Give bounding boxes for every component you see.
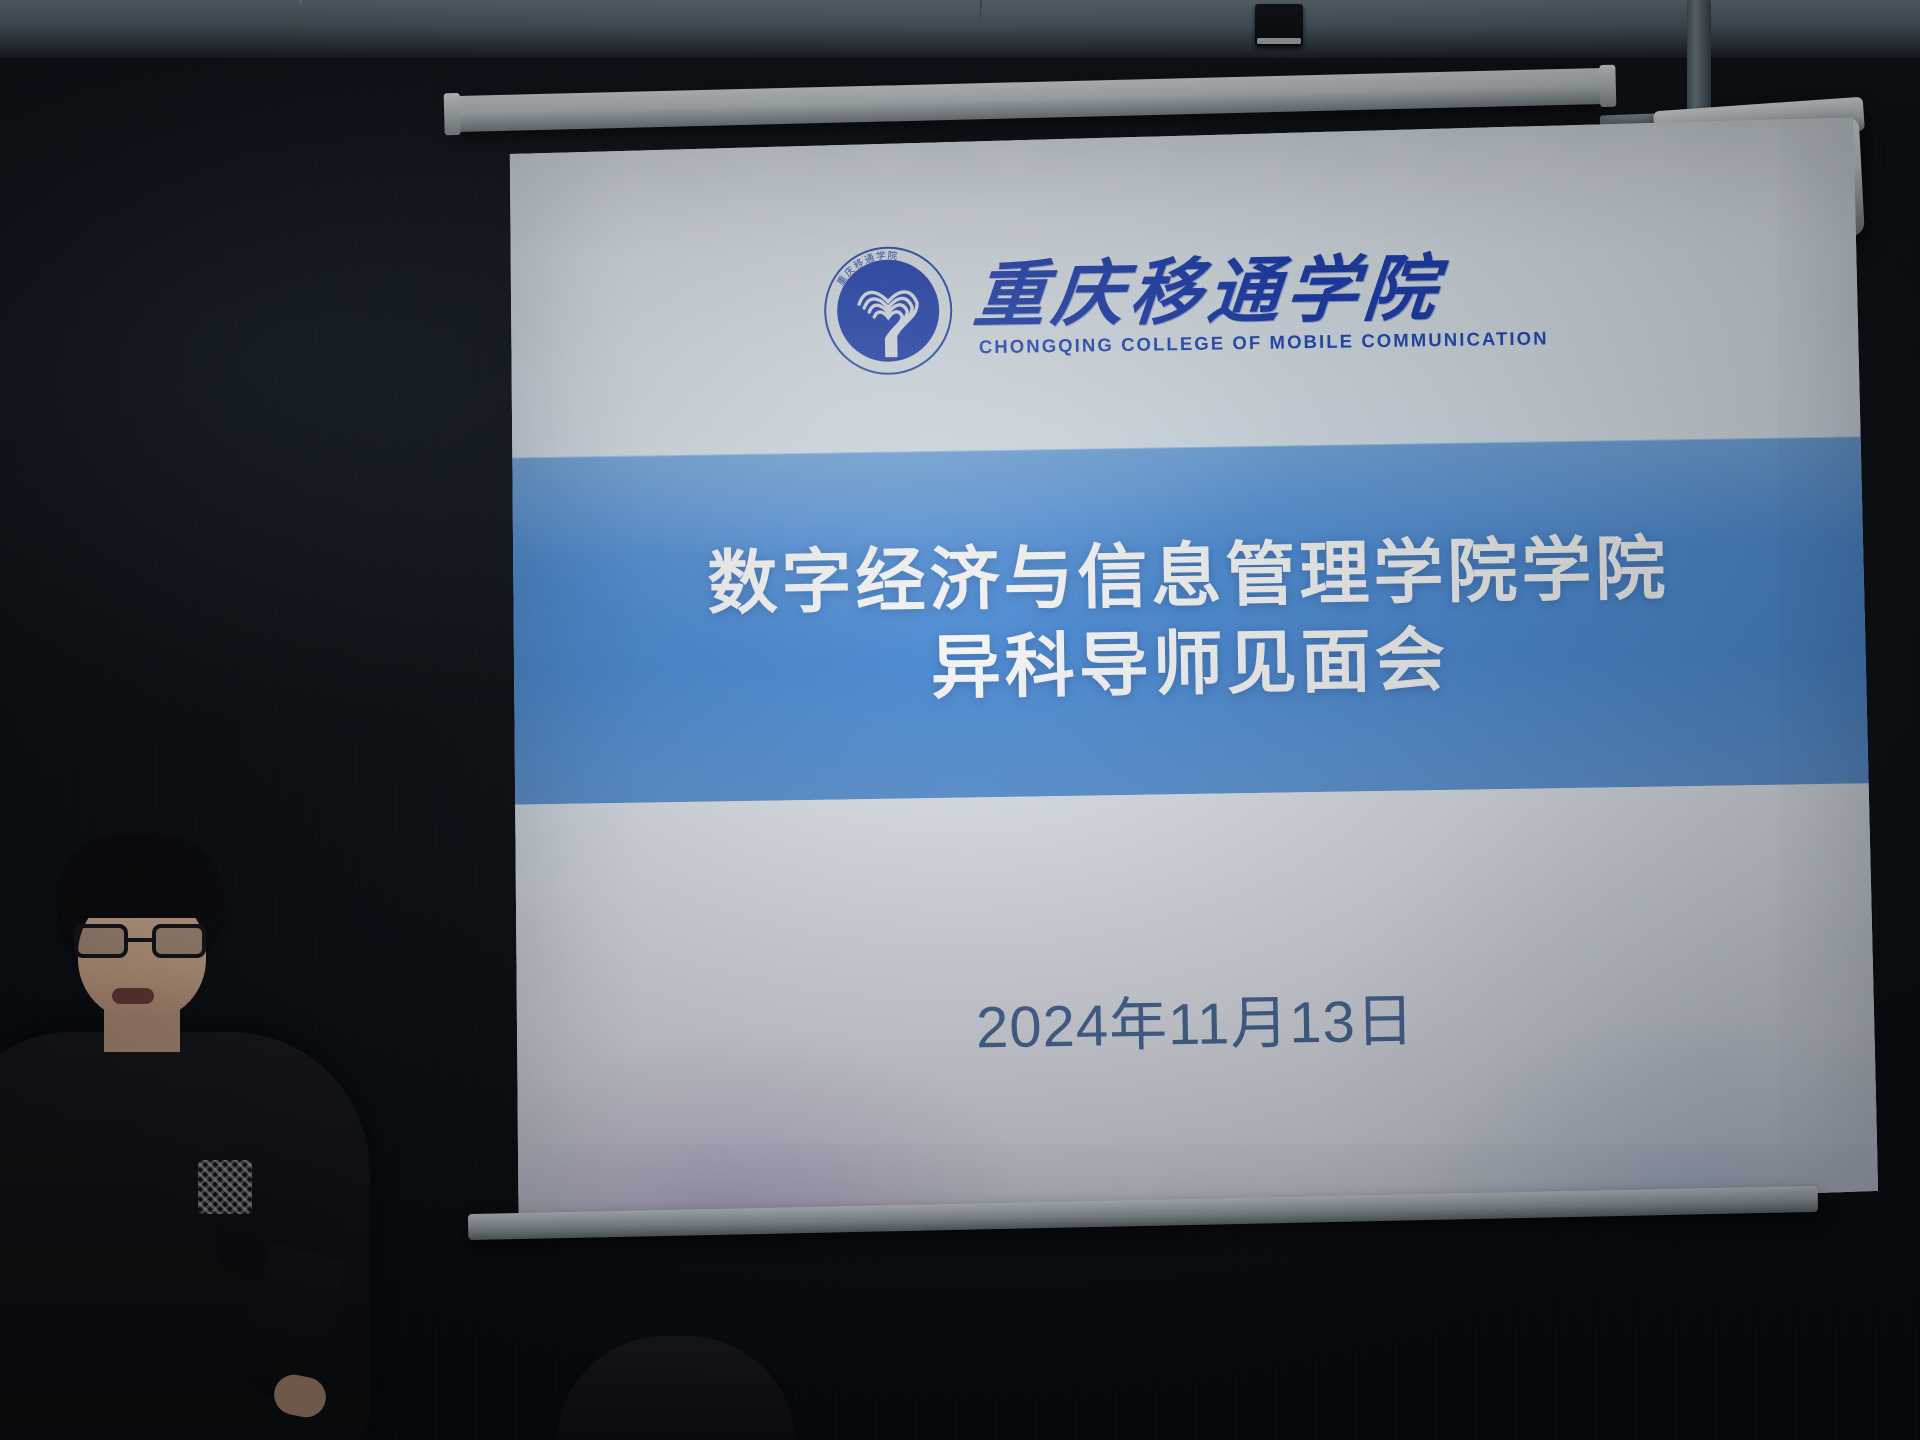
eyeglasses-icon: [74, 924, 206, 958]
slide-title-line-1: 数字经济与信息管理学院学院: [707, 527, 1670, 625]
slide-footer: 2024年11月13日: [512, 783, 1879, 1239]
ceiling-seam: [0, 0, 1920, 62]
presenter-hair-front: [58, 834, 224, 918]
chongqing-college-emblem-icon: 重庆移通学院 CHONGQING COLLEGE OF MOBILE COMMU…: [823, 245, 953, 375]
screen-case-end-right: [1599, 65, 1616, 107]
presenter: [0, 820, 420, 1440]
slide-header: 重庆移通学院 CHONGQING COLLEGE OF MOBILE COMMU…: [501, 117, 1866, 457]
presenter-mouth: [112, 988, 154, 1004]
eyeglass-lens-left: [74, 924, 128, 958]
slide-title-band: 数字经济与信息管理学院学院 异科导师见面会: [506, 436, 1871, 804]
institution-logo: 重庆移通学院 CHONGQING COLLEGE OF MOBILE COMMU…: [823, 236, 1545, 375]
presenter-shirt-graphic: [198, 1160, 252, 1214]
slide-title-line-2: 异科导师见面会: [930, 619, 1449, 710]
institution-name-block: 重庆移通学院 CHONGQING COLLEGE OF MOBILE COMMU…: [973, 251, 1544, 358]
projector-mount-pole: [1687, 0, 1711, 118]
ceiling-downlight-icon: [1255, 4, 1303, 46]
eyeglass-lens-right: [152, 924, 206, 958]
slide-date: 2024年11月13日: [975, 974, 1415, 1065]
eyeglass-bridge: [128, 938, 152, 942]
presentation-slide: 重庆移通学院 CHONGQING COLLEGE OF MOBILE COMMU…: [501, 117, 1878, 1238]
ceiling: [0, 0, 1920, 62]
lecture-room-scene: 重庆移通学院 CHONGQING COLLEGE OF MOBILE COMMU…: [0, 0, 1920, 1440]
projection-screen: 重庆移通学院 CHONGQING COLLEGE OF MOBILE COMMU…: [501, 117, 1878, 1238]
institution-name-cn: 重庆移通学院: [971, 251, 1547, 332]
screen-case-end-left: [444, 93, 461, 135]
